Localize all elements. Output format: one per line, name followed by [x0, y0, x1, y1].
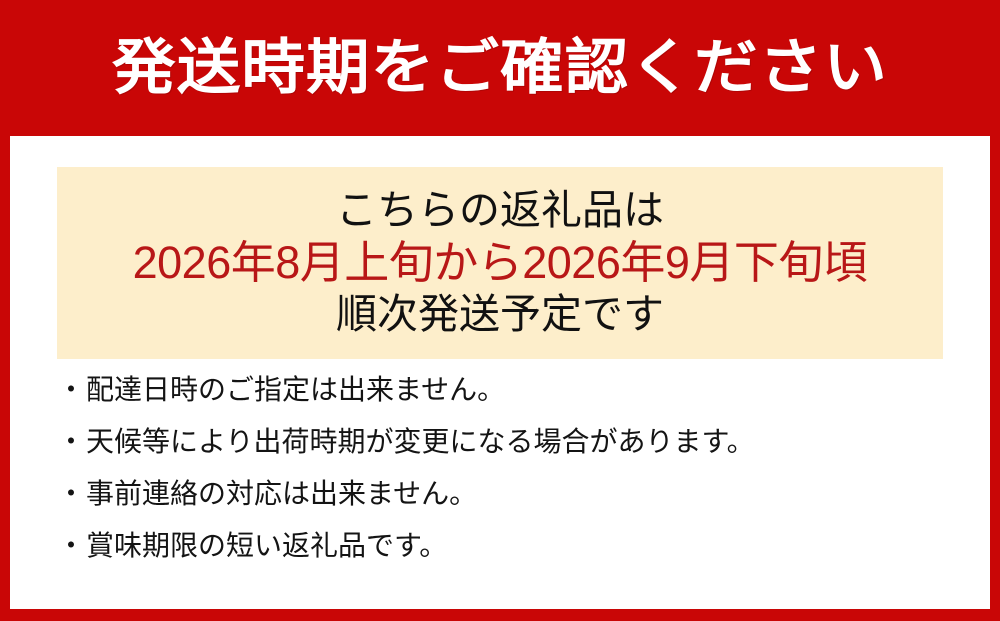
- list-item: ・ 天候等により出荷時期が変更になる場合があります。: [57, 428, 947, 480]
- bullet-icon: ・: [57, 532, 85, 560]
- list-item: ・ 配達日時のご指定は出来ません。: [57, 376, 947, 428]
- notes-list: ・ 配達日時のご指定は出来ません。 ・ 天候等により出荷時期が変更になる場合があ…: [57, 376, 947, 584]
- bullet-icon: ・: [57, 428, 85, 456]
- page-title: 発送時期をご確認ください: [112, 38, 888, 98]
- callout-line-shipping-period: 2026年8月上旬から2026年9月下旬頃: [133, 237, 868, 289]
- content-panel: こちらの返礼品は 2026年8月上旬から2026年9月下旬頃 順次発送予定です …: [10, 136, 990, 609]
- list-item: ・ 賞味期限の短い返礼品です。: [57, 532, 947, 584]
- list-item-label: 配達日時のご指定は出来ません。: [86, 376, 505, 404]
- header-banner: 発送時期をご確認ください: [0, 0, 1000, 136]
- shipping-notice-poster: 発送時期をご確認ください こちらの返礼品は 2026年8月上旬から2026年9月…: [0, 0, 1000, 621]
- list-item-label: 賞味期限の短い返礼品です。: [86, 532, 447, 560]
- callout-line-outro: 順次発送予定です: [336, 291, 664, 339]
- callout-line-intro: こちらの返礼品は: [336, 187, 664, 235]
- list-item: ・ 事前連絡の対応は出来ません。: [57, 480, 947, 532]
- bullet-icon: ・: [57, 376, 85, 404]
- list-item-label: 事前連絡の対応は出来ません。: [86, 480, 477, 508]
- bullet-icon: ・: [57, 480, 85, 508]
- list-item-label: 天候等により出荷時期が変更になる場合があります。: [86, 428, 755, 456]
- shipping-period-callout: こちらの返礼品は 2026年8月上旬から2026年9月下旬頃 順次発送予定です: [57, 167, 943, 359]
